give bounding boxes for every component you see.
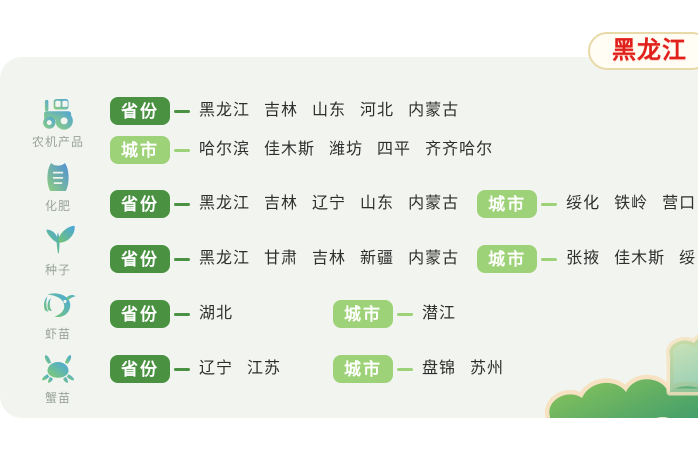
connector-dash xyxy=(174,368,190,371)
value: 内蒙古 xyxy=(408,102,459,119)
value: 齐齐哈尔 xyxy=(425,141,493,158)
category-icon-fertilizer[interactable]: 化肥 xyxy=(22,157,94,213)
city-tag[interactable]: 城市 xyxy=(477,190,537,218)
value: 盘锦 xyxy=(422,360,456,377)
city-tag[interactable]: 城市 xyxy=(333,355,393,383)
value: 绥 xyxy=(679,250,696,267)
value: 苏州 xyxy=(470,360,504,377)
province-value-list: 辽宁江苏 xyxy=(199,361,333,377)
province-value-list: 湖北 xyxy=(199,306,333,322)
value: 黑龙江 xyxy=(199,250,250,267)
province-tag[interactable]: 省份 xyxy=(110,97,170,125)
province-value-list: 黑龙江吉林辽宁山东内蒙古 xyxy=(199,196,459,212)
value: 四平 xyxy=(377,141,411,158)
province-highlight-badge[interactable]: 黑龙江 xyxy=(588,32,698,70)
value: 内蒙古 xyxy=(408,250,459,267)
city-value-list: 绥化铁岭营口 xyxy=(566,196,696,212)
connector-dash xyxy=(541,203,557,206)
province-tag[interactable]: 省份 xyxy=(110,190,170,218)
seedling-icon xyxy=(37,221,79,261)
province-highlight-text: 黑龙江 xyxy=(612,39,687,63)
connector-dash xyxy=(397,313,413,316)
tractor-icon xyxy=(37,93,79,133)
row-shrimp-fry: 省份 湖北 城市 潜江 xyxy=(110,299,456,329)
city-tag[interactable]: 城市 xyxy=(477,245,537,273)
content-card: 农机产品 化肥 种子 xyxy=(0,57,698,418)
value: 潜江 xyxy=(422,305,456,322)
connector-dash xyxy=(397,368,413,371)
city-tag[interactable]: 城市 xyxy=(110,136,170,164)
value: 吉林 xyxy=(264,195,298,212)
value: 湖北 xyxy=(199,305,233,322)
province-value-list: 黑龙江甘肃吉林新疆内蒙古 xyxy=(199,251,459,267)
shrimp-fry-icon xyxy=(37,285,79,325)
value: 潍坊 xyxy=(329,141,363,158)
city-group: 城市 潜江 xyxy=(333,300,456,328)
row-agri-machinery-city: 城市 哈尔滨佳木斯潍坊四平齐齐哈尔 xyxy=(110,135,493,165)
category-caption: 种子 xyxy=(22,263,94,277)
fertilizer-bag-icon xyxy=(37,157,79,197)
city-group: 城市 绥化铁岭营口 xyxy=(477,190,696,218)
value: 甘肃 xyxy=(264,250,298,267)
connector-dash xyxy=(174,313,190,316)
category-icon-seed[interactable]: 种子 xyxy=(22,221,94,277)
row-fertilizer: 省份 黑龙江吉林辽宁山东内蒙古 城市 绥化铁岭营口 xyxy=(110,189,696,219)
connector-dash xyxy=(174,110,190,113)
category-icon-agri-machinery[interactable]: 农机产品 xyxy=(22,93,94,149)
value: 内蒙古 xyxy=(408,195,459,212)
value: 铁岭 xyxy=(614,195,648,212)
category-icon-crab-fry[interactable]: 蟹苗 xyxy=(22,349,94,405)
category-icon-shrimp-fry[interactable]: 虾苗 xyxy=(22,285,94,341)
row-seed: 省份 黑龙江甘肃吉林新疆内蒙古 城市 张掖佳木斯绥 xyxy=(110,244,696,274)
decorative-cloud-graphic xyxy=(520,322,698,418)
value: 江苏 xyxy=(247,360,281,377)
city-value-list: 潜江 xyxy=(422,306,456,322)
category-caption: 化肥 xyxy=(22,199,94,213)
category-caption: 虾苗 xyxy=(22,327,94,341)
category-caption: 农机产品 xyxy=(22,135,94,149)
row-agri-machinery-province: 省份 黑龙江吉林山东河北内蒙古 xyxy=(110,96,459,126)
crab-fry-icon xyxy=(37,349,79,389)
value: 绥化 xyxy=(566,195,600,212)
city-tag[interactable]: 城市 xyxy=(333,300,393,328)
value: 辽宁 xyxy=(199,360,233,377)
city-group: 城市 张掖佳木斯绥 xyxy=(477,245,696,273)
city-value-list: 张掖佳木斯绥 xyxy=(566,251,696,267)
category-caption: 蟹苗 xyxy=(22,391,94,405)
city-value-list: 盘锦苏州 xyxy=(422,361,504,377)
connector-dash xyxy=(541,258,557,261)
value: 佳木斯 xyxy=(264,141,315,158)
value: 黑龙江 xyxy=(199,195,250,212)
connector-dash xyxy=(174,203,190,206)
province-tag[interactable]: 省份 xyxy=(110,245,170,273)
connector-dash xyxy=(174,258,190,261)
value: 哈尔滨 xyxy=(199,141,250,158)
province-value-list: 黑龙江吉林山东河北内蒙古 xyxy=(199,103,459,119)
province-tag[interactable]: 省份 xyxy=(110,355,170,383)
city-group: 城市 盘锦苏州 xyxy=(333,355,504,383)
value: 张掖 xyxy=(566,250,600,267)
value: 吉林 xyxy=(312,250,346,267)
connector-dash xyxy=(174,149,190,152)
value: 河北 xyxy=(360,102,394,119)
value: 辽宁 xyxy=(312,195,346,212)
row-crab-fry: 省份 辽宁江苏 城市 盘锦苏州 xyxy=(110,354,504,384)
value: 山东 xyxy=(312,102,346,119)
province-tag[interactable]: 省份 xyxy=(110,300,170,328)
value: 山东 xyxy=(360,195,394,212)
city-value-list: 哈尔滨佳木斯潍坊四平齐齐哈尔 xyxy=(199,142,493,158)
value: 营口 xyxy=(662,195,696,212)
value: 佳木斯 xyxy=(614,250,665,267)
value: 吉林 xyxy=(264,102,298,119)
value: 黑龙江 xyxy=(199,102,250,119)
value: 新疆 xyxy=(360,250,394,267)
